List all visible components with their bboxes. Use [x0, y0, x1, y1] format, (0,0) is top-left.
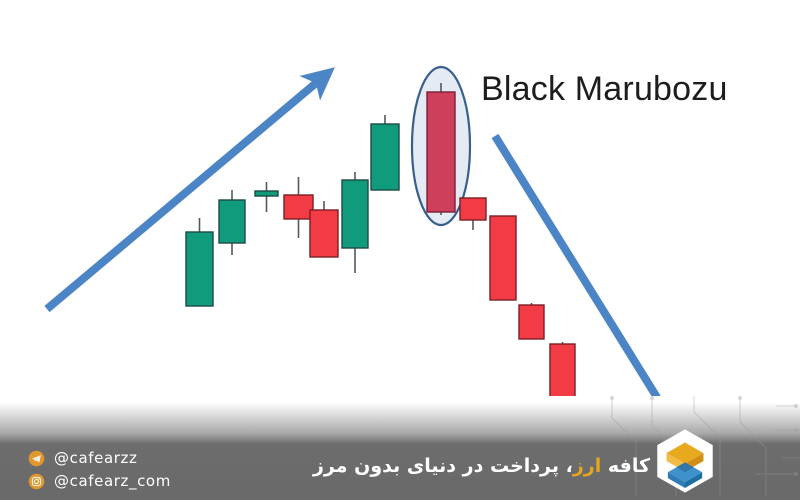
- candle-body: [490, 216, 516, 300]
- candle: [255, 182, 278, 212]
- brand-tagline: کافه ارز، پرداخت در دنیای بدون مرز: [313, 455, 650, 477]
- candle: [219, 190, 245, 255]
- candle-body: [284, 195, 313, 219]
- candlestick-chart: [0, 0, 800, 445]
- candle: [427, 83, 455, 215]
- tagline-prefix: کافه: [601, 455, 650, 477]
- candle-body: [255, 191, 278, 196]
- candle: [519, 303, 544, 339]
- candle-body: [460, 198, 486, 220]
- candle: [186, 218, 213, 306]
- chart-canvas: Black Marubozu: [0, 0, 800, 445]
- telegram-handle: @cafearzz: [54, 450, 137, 467]
- social-row-telegram[interactable]: @cafearzz: [28, 448, 171, 468]
- tagline-accent: ارز: [573, 455, 601, 477]
- candle: [342, 172, 368, 273]
- candle-body: [519, 305, 544, 339]
- social-row-instagram[interactable]: @cafearz_com: [28, 471, 171, 491]
- candle: [284, 177, 313, 238]
- candle-body: [186, 232, 213, 306]
- candle-body: [342, 180, 368, 248]
- candle: [371, 115, 399, 190]
- candle-body: [310, 210, 338, 257]
- instagram-handle: @cafearz_com: [54, 473, 171, 490]
- uptrend-arrow: [47, 78, 322, 309]
- tagline-suffix: ، پرداخت در دنیای بدون مرز: [313, 455, 573, 477]
- candle-body: [371, 124, 399, 190]
- instagram-icon[interactable]: [28, 473, 45, 490]
- candlestick-infographic: Black Marubozu: [0, 0, 800, 500]
- downtrend-arrow: [495, 136, 671, 420]
- candle: [490, 216, 516, 300]
- social-handles: @cafearzz @cafearz_com: [28, 448, 171, 491]
- pattern-label: Black Marubozu: [481, 70, 728, 109]
- cafearz-cube-logo: [652, 428, 718, 494]
- candle-body: [427, 92, 455, 212]
- candle-body: [219, 200, 245, 243]
- candle: [460, 198, 486, 230]
- candle: [310, 201, 338, 257]
- telegram-icon[interactable]: [28, 450, 45, 467]
